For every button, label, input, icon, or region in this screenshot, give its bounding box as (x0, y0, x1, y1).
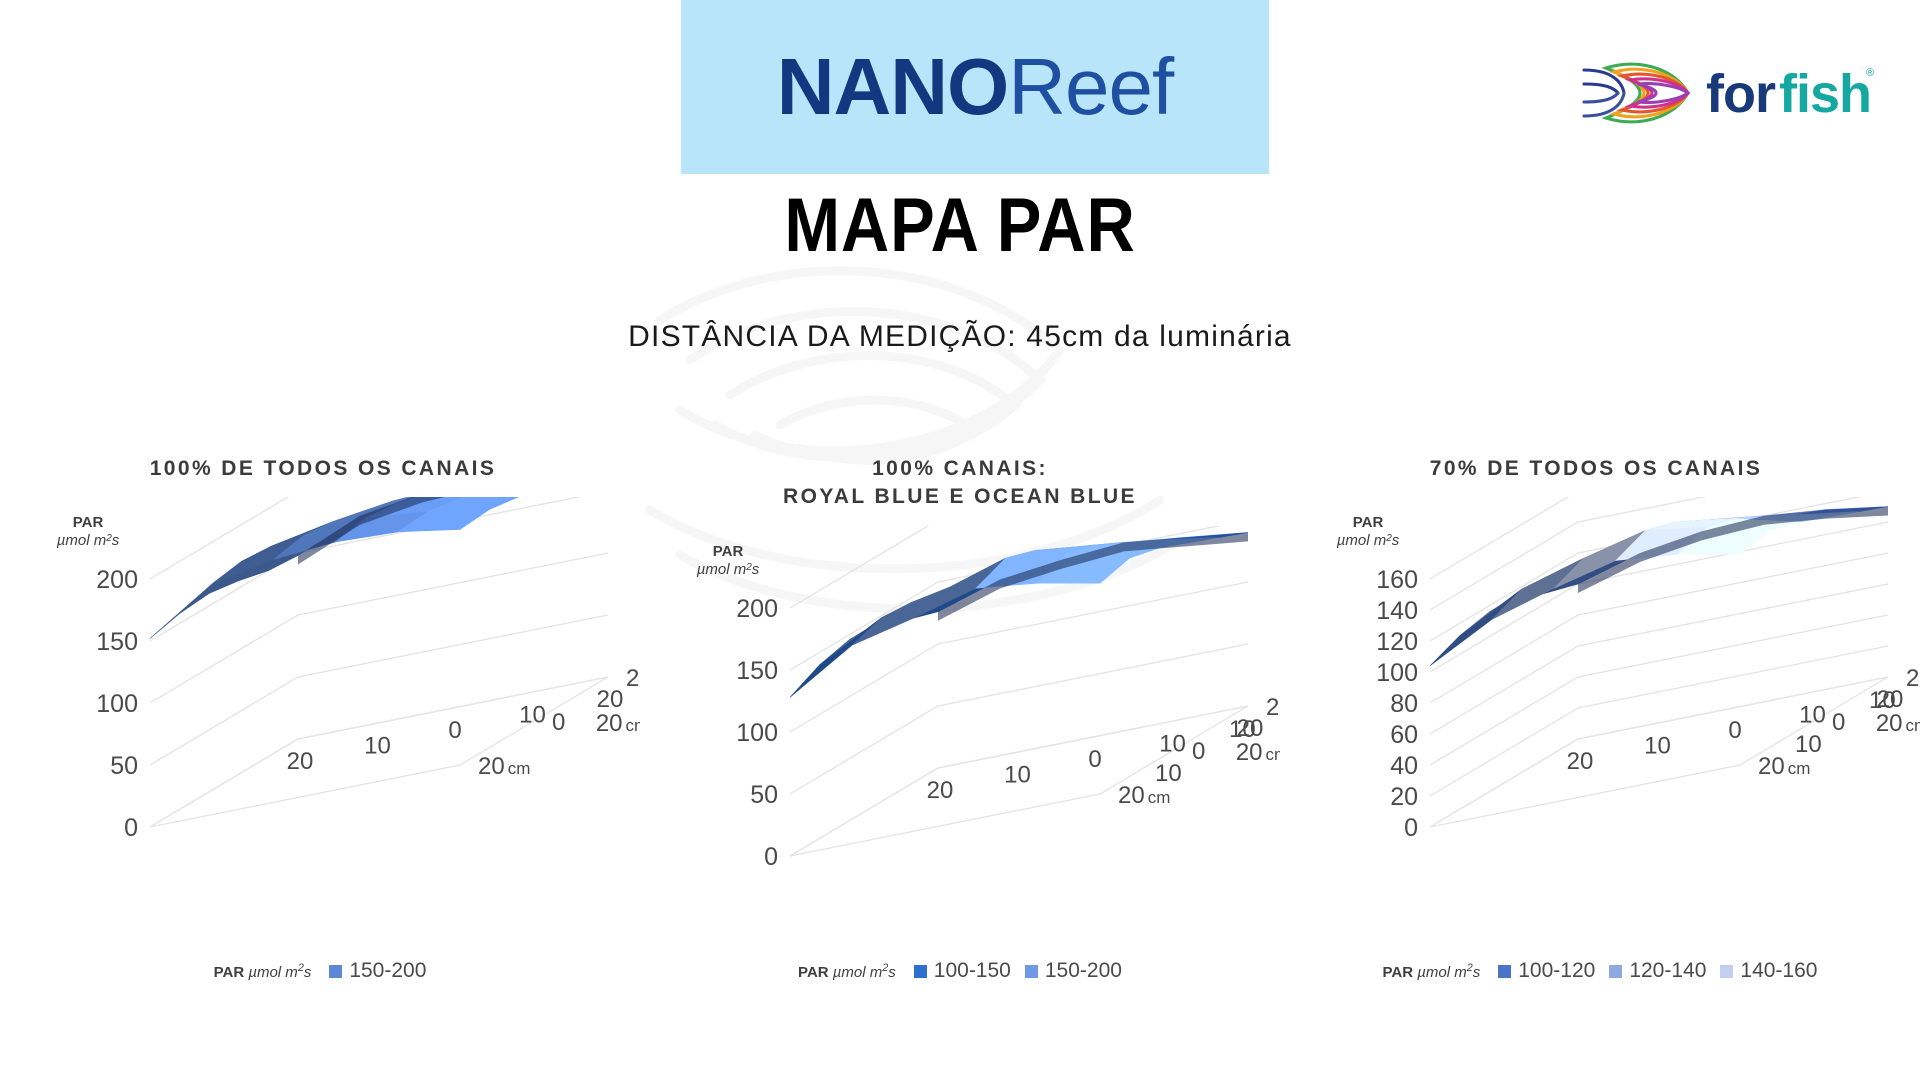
x-axis-tick: 0 (1728, 717, 1741, 744)
z-axis-unit: µmol m2s (697, 561, 760, 578)
poster-root: NANOReef for fish ® MAPA PAR DISTÂNCIA (0, 0, 1920, 1080)
surface-chart-svg: PARµmol m2s05010015020020100102020cm2002… (0, 497, 640, 897)
legend-label: 140-160 (1740, 959, 1817, 983)
x-axis-unit-label: 20cm (1876, 710, 1920, 737)
brand-band: NANOReef (681, 0, 1269, 174)
z-axis-tick: 150 (736, 657, 778, 685)
legend-axis-title: PAR µmol m2s (214, 962, 312, 981)
y-axis-tick: 0 (552, 709, 565, 736)
legend-item[interactable]: 100-150 (914, 959, 1011, 983)
brand-logo-nanoreef: NANOReef (777, 47, 1174, 127)
z-axis-tick: 50 (750, 781, 778, 809)
z-axis-title: PAR (713, 543, 744, 560)
z-axis-tick: 60 (1390, 721, 1418, 749)
z-axis-tick: 140 (1376, 597, 1418, 625)
forfish-text-first: for (1706, 64, 1776, 124)
legend-label: 150-200 (1045, 959, 1122, 983)
z-axis-tick: 0 (764, 843, 778, 871)
z-axis-tick: 40 (1390, 752, 1418, 780)
x-axis-tick: 20 (597, 686, 624, 713)
brand-reef-text: Reef (1008, 42, 1173, 131)
chart-plot-2: PARµmol m2s05010015020020100102020cm2010… (640, 526, 1280, 926)
z-axis-tick: 160 (1376, 566, 1418, 594)
z-axis-tick: 0 (124, 814, 138, 842)
y-axis-tick: 0 (1192, 738, 1205, 765)
x-axis-tick: 10 (1159, 730, 1186, 757)
chart-panel-2: 100% CANAIS:ROYAL BLUE E OCEAN BLUE PARµ… (640, 455, 1280, 1015)
legend-label: 100-120 (1518, 959, 1595, 983)
legend-item[interactable]: 150-200 (1025, 959, 1122, 983)
surface-mesh (790, 532, 1248, 697)
surface-chart-svg: PARµmol m2s05010015020020100102020cm2010… (640, 526, 1280, 926)
chart-legend-3: PAR µmol m2s100-120120-140140-160 (1280, 959, 1920, 983)
forfish-logo: for fish ® (1578, 52, 1878, 134)
x-axis-tick: 0 (448, 717, 461, 744)
z-axis-tick: 80 (1390, 690, 1418, 718)
chart-title-line: ROYAL BLUE E OCEAN BLUE (640, 483, 1280, 511)
y-axis-tick: 10 (1795, 731, 1822, 758)
legend-item[interactable]: 120-140 (1609, 959, 1706, 983)
legend-label: 150-200 (349, 959, 426, 983)
chart-title-line: 100% CANAIS: (640, 455, 1280, 483)
z-axis-tick: 120 (1376, 628, 1418, 656)
chart-title-line: 70% DE TODOS OS CANAIS (1280, 455, 1912, 483)
chart-title-1: 100% DE TODOS OS CANAIS (0, 455, 640, 483)
surface-chart-svg: PARµmol m2s02040608010012014016020100102… (1280, 497, 1920, 897)
chart-legend-1: PAR µmol m2s150-200 (0, 959, 640, 983)
x-axis-tick: 10 (519, 702, 546, 729)
chart-title-2: 100% CANAIS:ROYAL BLUE E OCEAN BLUE (640, 455, 1280, 512)
surface-mesh (1430, 507, 1888, 666)
x-axis-unit-label: 20cm (596, 710, 640, 737)
legend-swatch (1025, 965, 1038, 978)
z-axis-tick: 100 (736, 719, 778, 747)
z-axis-title: PAR (73, 514, 104, 531)
x-axis-tick: 10 (364, 733, 391, 760)
surface-mesh (150, 497, 608, 639)
x-axis-tick: 0 (1088, 746, 1101, 773)
z-axis-tick: 200 (736, 595, 778, 623)
z-axis-tick: 150 (96, 628, 138, 656)
legend-swatch (1609, 965, 1622, 978)
chart-legend-2: PAR µmol m2s100-150150-200 (640, 959, 1280, 983)
z-axis-unit: µmol m2s (57, 532, 120, 549)
legend-swatch (329, 965, 342, 978)
y-axis-tick: 20 (626, 665, 640, 692)
legend-item[interactable]: 150-200 (329, 959, 426, 983)
y-axis-tick: 0 (1832, 709, 1845, 736)
y-axis-tick: 20cm (478, 753, 530, 780)
brand-nano-text: NANO (777, 42, 1009, 131)
legend-label: 100-150 (934, 959, 1011, 983)
legend-axis-title: PAR µmol m2s (1383, 962, 1481, 981)
chart-title-3: 70% DE TODOS OS CANAIS (1280, 455, 1920, 483)
chart-plot-3: PARµmol m2s02040608010012014016020100102… (1280, 497, 1920, 897)
x-axis-tick: 20 (927, 777, 954, 804)
z-axis-tick: 50 (110, 752, 138, 780)
x-axis-tick: 10 (1004, 761, 1031, 788)
x-axis-tick: 20 (287, 748, 314, 775)
forfish-text-second: fish (1779, 64, 1871, 124)
z-axis-unit: µmol m2s (1337, 532, 1400, 549)
y-axis-tick: 10 (1869, 687, 1896, 714)
chart-plot-1: PARµmol m2s05010015020020100102020cm2002… (0, 497, 640, 897)
z-axis-tick: 20 (1390, 783, 1418, 811)
legend-item[interactable]: 100-120 (1498, 959, 1595, 983)
legend-axis-title: PAR µmol m2s (798, 962, 896, 981)
chart-title-line: 100% DE TODOS OS CANAIS (6, 455, 640, 483)
legend-swatch (1720, 965, 1733, 978)
y-axis-tick: 20 (1906, 665, 1920, 692)
x-axis-unit-label: 20cm (1236, 739, 1280, 766)
page-subtitle: DISTÂNCIA DA MEDIÇÃO: 45cm da luminária (0, 320, 1920, 354)
x-axis-tick: 10 (1799, 702, 1826, 729)
legend-label: 120-140 (1629, 959, 1706, 983)
chart-panel-3: 70% DE TODOS OS CANAIS PARµmol m2s020406… (1280, 455, 1920, 1015)
z-axis-tick: 100 (1376, 659, 1418, 687)
legend-item[interactable]: 140-160 (1720, 959, 1817, 983)
legend-swatch (1498, 965, 1511, 978)
x-axis-tick: 10 (1644, 733, 1671, 760)
z-axis-tick: 0 (1404, 814, 1418, 842)
z-axis-title: PAR (1353, 514, 1384, 531)
z-axis-tick: 200 (96, 566, 138, 594)
page-title: MAPA PAR (115, 182, 1805, 269)
y-axis-tick: 20 (1266, 694, 1280, 721)
registered-mark-icon: ® (1866, 67, 1874, 79)
z-axis-tick: 100 (96, 690, 138, 718)
x-axis-tick: 20 (1567, 748, 1594, 775)
chart-panel-1: 100% DE TODOS OS CANAIS PARµmol m2s05010… (0, 455, 640, 1015)
legend-swatch (914, 965, 927, 978)
y-axis-tick: 10 (1229, 716, 1256, 743)
y-axis-tick: 10 (1155, 760, 1182, 787)
